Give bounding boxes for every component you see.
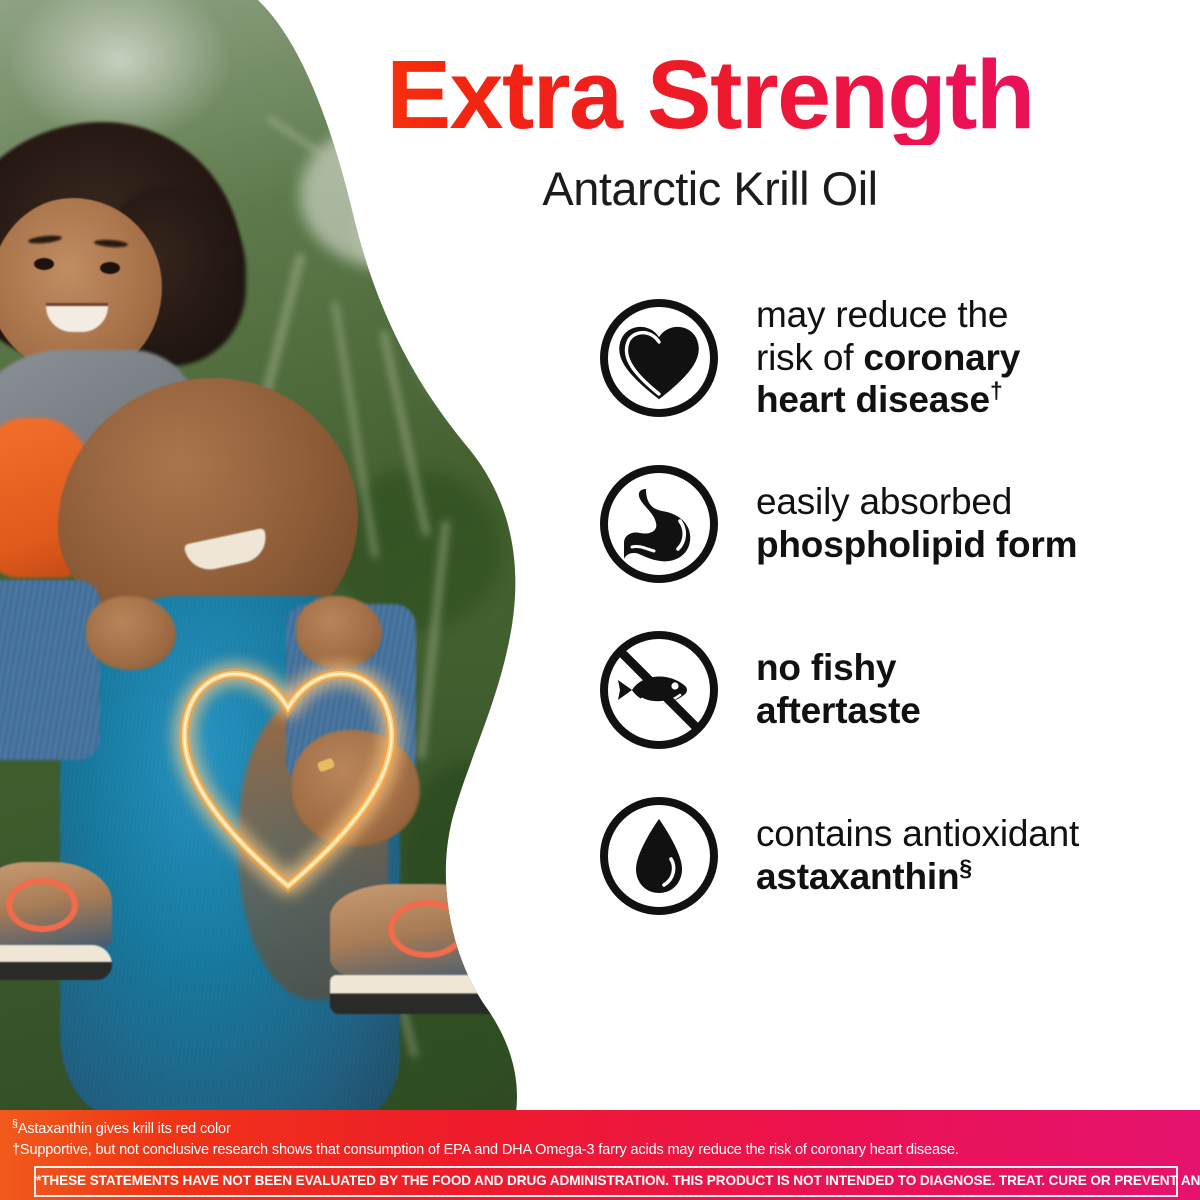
benefit-label-stomach: easily absorbed phospholipid form [756,481,1077,567]
benefit-item-stomach: easily absorbed phospholipid form [596,458,1176,590]
benefit-line-2-bold: aftertaste [756,690,921,731]
child-shoelace-left [6,878,78,932]
child-hand-left [86,596,176,670]
benefit-line-1: contains antioxidant [756,813,1079,854]
footnote-astaxanthin: §Astaxanthin gives krill its red color [12,1119,1188,1140]
fda-statement-box: *THESE STATEMENTS HAVE NOT BEEN EVALUATE… [34,1166,1178,1197]
benefit-item-droplet: contains antioxidant astaxanthin§ [596,790,1176,922]
child-eye-right [100,262,120,274]
title-block: Extra Strength Antarctic Krill Oil [240,46,1180,216]
benefit-line-1: easily absorbed [756,481,1012,522]
droplet-icon [596,793,722,919]
child-jeans-left [0,580,100,760]
benefit-line-1: may reduce the [756,294,1008,335]
benefit-line-3-bold: heart disease [756,379,990,420]
benefit-item-no-fish: no fishy aftertaste [596,624,1176,756]
footer-disclaimer-band: §Astaxanthin gives krill its red color †… [0,1110,1200,1200]
footnote-marker-dagger: † [12,1142,20,1158]
benefit-label-no-fish: no fishy aftertaste [756,647,921,733]
benefit-item-heart: may reduce the risk of coronary heart di… [596,292,1176,424]
footnote-supportive-text: Supportive, but not conclusive research … [20,1142,959,1158]
benefit-line-2-normal: risk of [756,337,863,378]
benefit-line-2-bold: coronary [863,337,1020,378]
fda-statement-text: *THESE STATEMENTS HAVE NOT BEEN EVALUATE… [36,1173,1200,1188]
page-title: Extra Strength [240,46,1180,145]
benefit-label-heart: may reduce the risk of coronary heart di… [756,294,1020,423]
man-hand [292,730,420,846]
footnote-astaxanthin-text: Astaxanthin gives krill its red color [18,1121,231,1137]
benefit-footnote-marker: † [990,378,1003,404]
child-eye-left [34,258,54,270]
child-hand-right [296,596,382,668]
no-fish-icon [596,627,722,753]
benefit-label-droplet: contains antioxidant astaxanthin§ [756,813,1079,899]
benefit-line-1-bold: no fishy [756,647,896,688]
child-shoelace-right [388,900,466,958]
heart-icon [596,295,722,421]
benefit-line-2-bold: astaxanthin [756,856,959,897]
stomach-icon [596,461,722,587]
benefit-line-2-bold: phospholipid form [756,524,1077,565]
benefits-list: may reduce the risk of coronary heart di… [596,292,1176,956]
product-marketing-image: Extra Strength Antarctic Krill Oil may r… [0,0,1200,1200]
product-subtitle: Antarctic Krill Oil [240,161,1180,216]
benefit-footnote-marker: § [959,855,972,881]
footnote-supportive: †Supportive, but not conclusive research… [12,1140,1188,1161]
